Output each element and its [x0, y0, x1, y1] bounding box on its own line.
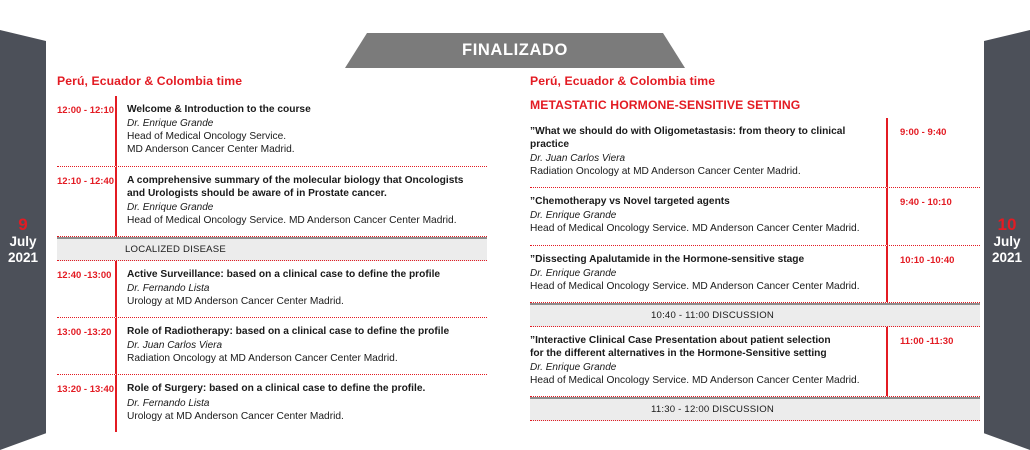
session-title: ”Interactive Clinical Case Presentation … — [530, 334, 876, 360]
day-tab-left[interactable]: 9 July 2021 — [0, 30, 46, 450]
timezone-title-right: Perú, Ecuador & Colombia time — [530, 74, 980, 88]
agenda-row: ”Dissecting Apalutamide in the Hormone-s… — [530, 246, 980, 303]
session-speaker: Dr. Juan Carlos Viera — [127, 339, 487, 352]
agenda-page: 9 July 2021 10 July 2021 FINALIZADO Perú… — [0, 0, 1030, 450]
session-details: ”Interactive Clinical Case Presentation … — [530, 327, 886, 396]
session-details: Role of Radiotherapy: based on a clinica… — [115, 318, 487, 374]
session-title-line: Role of Surgery: based on a clinical cas… — [127, 382, 487, 395]
session-details: ”Chemotherapy vs Novel targeted agentsDr… — [530, 188, 886, 244]
status-banner: FINALIZADO — [345, 33, 685, 68]
agenda-row: ”Interactive Clinical Case Presentation … — [530, 327, 980, 397]
day-number-right: 10 — [998, 215, 1017, 234]
session-title-line: Role of Radiotherapy: based on a clinica… — [127, 325, 487, 338]
discussion-band: 10:40 - 11:00 DISCUSSION — [530, 303, 980, 327]
session-title-line: and Urologists should be aware of in Pro… — [127, 187, 487, 200]
session-affiliation: Radiation Oncology at MD Anderson Cancer… — [127, 352, 487, 365]
agenda-row: 12:00 - 12:10Welcome & Introduction to t… — [57, 96, 487, 167]
day-number-left: 9 — [18, 215, 27, 234]
session-speaker: Dr. Enrique Grande — [530, 209, 876, 222]
session-time: 13:20 - 13:40 — [57, 375, 115, 395]
session-affiliation: Head of Medical Oncology Service. — [127, 130, 487, 143]
session-title-line: A comprehensive summary of the molecular… — [127, 174, 487, 187]
agenda-rows-right: ”What we should do with Oligometastasis:… — [530, 118, 980, 421]
session-title: ”Dissecting Apalutamide in the Hormone-s… — [530, 253, 876, 266]
agenda-row: 13:20 - 13:40Role of Surgery: based on a… — [57, 375, 487, 431]
session-time: 12:10 - 12:40 — [57, 167, 115, 187]
session-speaker: Dr. Juan Carlos Viera — [530, 152, 876, 165]
day-tab-right[interactable]: 10 July 2021 — [984, 30, 1030, 450]
session-affiliation: Head of Medical Oncology Service. MD And… — [530, 222, 876, 235]
session-title-line: Active Surveillance: based on a clinical… — [127, 268, 487, 281]
session-speaker: Dr. Enrique Grande — [530, 267, 876, 280]
section-title-metastatic: METASTATIC HORMONE-SENSITIVE SETTING — [530, 98, 980, 112]
agenda-rows-left: 12:00 - 12:10Welcome & Introduction to t… — [57, 96, 487, 432]
session-speaker: Dr. Enrique Grande — [127, 201, 487, 214]
session-title: ”What we should do with Oligometastasis:… — [530, 125, 876, 151]
session-details: ”Dissecting Apalutamide in the Hormone-s… — [530, 246, 886, 302]
session-affiliation: Urology at MD Anderson Cancer Center Mad… — [127, 295, 487, 308]
session-affiliation: Radiation Oncology at MD Anderson Cancer… — [530, 165, 876, 178]
agenda-column-day9: Perú, Ecuador & Colombia time 12:00 - 12… — [57, 74, 487, 432]
session-title: Role of Surgery: based on a clinical cas… — [127, 382, 487, 395]
session-title: Active Surveillance: based on a clinical… — [127, 268, 487, 281]
session-time: 11:00 -11:30 — [886, 327, 980, 396]
session-time: 10:10 -10:40 — [886, 246, 980, 302]
session-title-line: ”Dissecting Apalutamide in the Hormone-s… — [530, 253, 876, 266]
session-time: 9:00 - 9:40 — [886, 118, 980, 187]
session-affiliation: Head of Medical Oncology Service. MD And… — [530, 374, 876, 387]
section-band-localized-disease: LOCALIZED DISEASE — [57, 237, 487, 261]
session-affiliation: Head of Medical Oncology Service. MD And… — [127, 214, 487, 227]
day-month-left: July — [9, 234, 36, 249]
session-time: 12:40 -13:00 — [57, 261, 115, 281]
session-title: A comprehensive summary of the molecular… — [127, 174, 487, 200]
session-time: 12:00 - 12:10 — [57, 96, 115, 116]
session-time: 9:40 - 10:10 — [886, 188, 980, 244]
session-title: Role of Radiotherapy: based on a clinica… — [127, 325, 487, 338]
day-year-right: 2021 — [992, 250, 1022, 265]
session-details: Welcome & Introduction to the courseDr. … — [115, 96, 487, 166]
timezone-title-left: Perú, Ecuador & Colombia time — [57, 74, 487, 88]
agenda-row: 13:00 -13:20Role of Radiotherapy: based … — [57, 318, 487, 375]
session-details: Role of Surgery: based on a clinical cas… — [115, 375, 487, 431]
session-affiliation: MD Anderson Cancer Center Madrid. — [127, 143, 487, 156]
session-details: Active Surveillance: based on a clinical… — [115, 261, 487, 317]
session-title-line: ”Chemotherapy vs Novel targeted agents — [530, 195, 876, 208]
session-title: Welcome & Introduction to the course — [127, 103, 487, 116]
session-speaker: Dr. Fernando Lista — [127, 282, 487, 295]
session-title-line: ”What we should do with Oligometastasis:… — [530, 125, 876, 151]
agenda-column-day10: Perú, Ecuador & Colombia time METASTATIC… — [530, 74, 980, 421]
session-title-line: for the different alternatives in the Ho… — [530, 347, 876, 360]
session-title-line: Welcome & Introduction to the course — [127, 103, 487, 116]
session-title-line: ”Interactive Clinical Case Presentation … — [530, 334, 876, 347]
session-speaker: Dr. Enrique Grande — [127, 117, 487, 130]
day-month-right: July — [993, 234, 1020, 249]
session-details: A comprehensive summary of the molecular… — [115, 167, 487, 236]
session-affiliation: Urology at MD Anderson Cancer Center Mad… — [127, 410, 487, 423]
status-banner-label: FINALIZADO — [462, 41, 568, 60]
session-speaker: Dr. Enrique Grande — [530, 361, 876, 374]
session-affiliation: Head of Medical Oncology Service. MD And… — [530, 280, 876, 293]
agenda-row: 12:40 -13:00Active Surveillance: based o… — [57, 261, 487, 318]
discussion-band: 11:30 - 12:00 DISCUSSION — [530, 397, 980, 421]
session-speaker: Dr. Fernando Lista — [127, 397, 487, 410]
agenda-row: ”Chemotherapy vs Novel targeted agentsDr… — [530, 188, 980, 245]
session-details: ”What we should do with Oligometastasis:… — [530, 118, 886, 187]
agenda-row: 12:10 - 12:40A comprehensive summary of … — [57, 167, 487, 237]
agenda-row: ”What we should do with Oligometastasis:… — [530, 118, 980, 188]
session-title: ”Chemotherapy vs Novel targeted agents — [530, 195, 876, 208]
session-time: 13:00 -13:20 — [57, 318, 115, 338]
day-year-left: 2021 — [8, 250, 38, 265]
